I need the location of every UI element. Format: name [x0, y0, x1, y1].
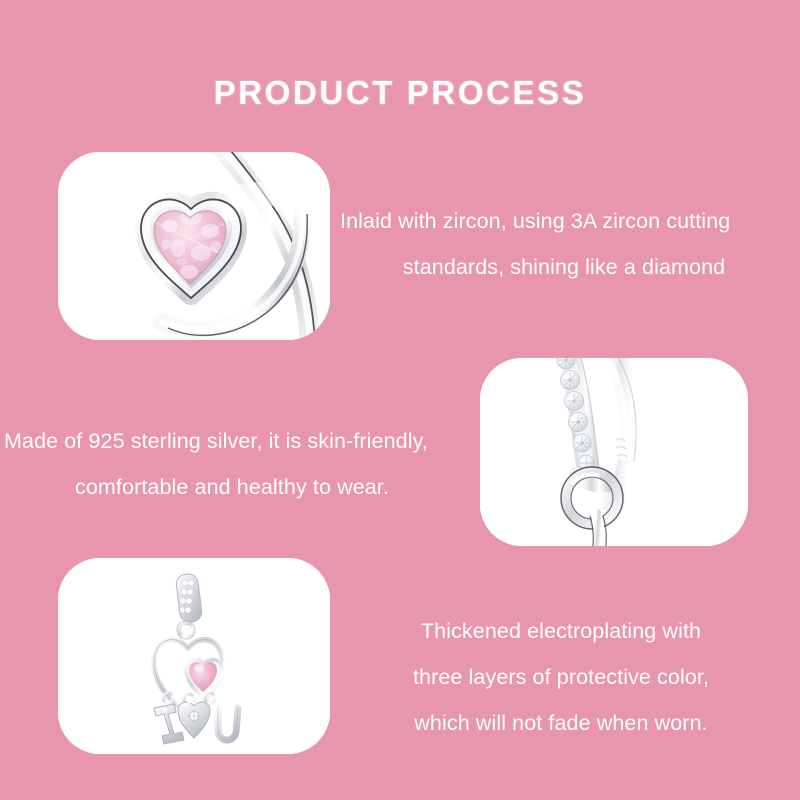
silver-photo-stage [480, 358, 748, 546]
product-process-poster: PRODUCT PROCESS [0, 0, 800, 800]
feature-text-silver-line-1: Made of 925 sterling silver, it is skin-… [4, 418, 470, 464]
pave-set-bail-and-jump-ring-closeup [480, 358, 748, 546]
feature-text-zircon-line-2: standards, shining like a diamond [338, 244, 790, 290]
feature-text-silver: Made of 925 sterling silver, it is skin-… [0, 418, 470, 510]
feature-text-electroplating-line-1: Thickened electroplating with [378, 608, 744, 654]
zircon-photo-stage [58, 152, 330, 340]
electroplating-photo-stage [58, 558, 330, 754]
heart-pendant-with-pink-zircon-closeup [58, 152, 330, 340]
feature-text-electroplating: Thickened electroplating with three laye… [378, 608, 744, 746]
feature-text-zircon: Inlaid with zircon, using 3A zircon cutt… [338, 198, 790, 290]
feature-image-card-zircon [58, 152, 330, 340]
feature-text-electroplating-line-3: which will not fade when worn. [378, 700, 744, 746]
i-love-you-heart-charm-pendant-full-view [58, 558, 330, 754]
feature-image-card-electroplating [58, 558, 330, 754]
feature-image-card-silver [480, 358, 748, 546]
feature-text-zircon-line-1: Inlaid with zircon, using 3A zircon cutt… [340, 198, 790, 244]
feature-text-electroplating-line-2: three layers of protective color, [378, 654, 744, 700]
feature-text-silver-line-2: comfortable and healthy to wear. [0, 464, 470, 510]
page-title: PRODUCT PROCESS [0, 74, 800, 112]
